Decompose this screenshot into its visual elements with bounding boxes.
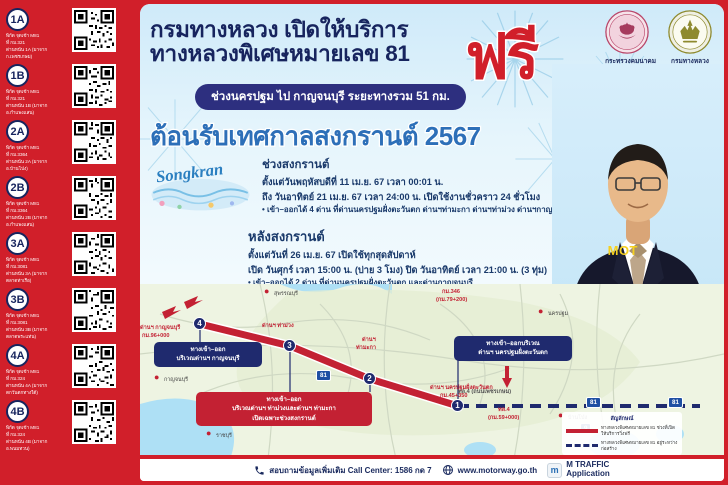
callout-kanchanaburi-line-2: บริเวณด่านฯ กาญจนบุรี [160, 354, 256, 363]
qr-item[interactable]: 4A พิกัด จุดเข้า M81ที่ กม.324 ด่านหน้น … [6, 344, 134, 396]
qr-item[interactable]: 3A พิกัด จุดเข้า M81ที่ กม.3081 ด่านหน้น… [6, 232, 134, 284]
jacket-mot-text: MOT [608, 243, 638, 258]
phone-icon [254, 465, 265, 476]
mtraffic-line-2: Application [566, 470, 610, 479]
qr-code-image[interactable] [72, 400, 116, 444]
callout-kanchanaburi-line-1: ทางเข้า–ออก [160, 345, 256, 354]
qr-caption: พิกัด จุดเข้า M81ที่ กม.3364 ด่านหน้น 2A… [6, 145, 68, 173]
globe-icon [442, 464, 454, 476]
map-place-nakhonpathom: นครปฐม [548, 310, 568, 318]
free-badge-text: ฟรี [465, 8, 536, 106]
qr-badge: 1A [6, 8, 29, 31]
qr-info: 4A พิกัด จุดเข้า M81ที่ กม.324 ด่านหน้น … [6, 344, 68, 397]
map-place-kanchanaburi: กาญจนบุรี [164, 376, 188, 384]
qr-info: 3A พิกัด จุดเข้า M81ที่ กม.3081 ด่านหน้น… [6, 232, 68, 285]
map-legend: สัญลักษณ์ ทางหลวงพิเศษหมายเลข 81 ช่วงที่… [562, 412, 682, 455]
qr-code-image[interactable] [72, 232, 116, 276]
qr-code-image[interactable] [72, 64, 116, 108]
during-line-2: ถึง วันอาทิตย์ 21 เม.ย. 67 เวลา 24:00 น.… [262, 190, 592, 205]
qr-code-image[interactable] [72, 176, 116, 220]
qr-caption: พิกัด จุดเข้า M81ที่ กม.3081 ด่านหน้น 3B… [6, 313, 68, 341]
ministry-of-transport-seal-icon [605, 10, 649, 54]
during-line-3: • เข้า–ออกได้ 4 ด่าน ที่ด่านนครปฐมฝั่งตะ… [262, 204, 592, 216]
qr-item[interactable]: 2A พิกัด จุดเข้า M81ที่ กม.3364 ด่านหน้น… [6, 120, 134, 172]
route-subbanner: ช่วงนครปฐม ไป กาญจนบุรี ระยะทางรวม 51 กม… [195, 84, 466, 110]
callout-thamuang-thamaka: ทางเข้า–ออก บริเวณด่านฯ ท่าม่วงและด่านฯ … [196, 392, 372, 426]
map-label-km59: (กม.59+000) [488, 414, 519, 422]
map-pin-ratchaburi: ● [206, 428, 211, 438]
footer-bar: สอบถามข้อมูลเพิ่มเติม Call Center: 1586 … [140, 459, 724, 481]
qr-badge: 3B [6, 288, 29, 311]
qr-item[interactable]: 2B พิกัด จุดเข้า M81ที่ กม.3364 ด่านหน้น… [6, 176, 134, 228]
during-heading: ช่วงสงกรานต์ [262, 156, 592, 174]
map-place-suphanburi: สุพรรณบุรี [274, 290, 298, 298]
route-shield-81: 81 [586, 397, 601, 408]
website-text: www.motorway.go.th [458, 466, 538, 475]
qr-badge: 2B [6, 176, 29, 199]
poster-root: 1A พิกัด จุดเข้า M81ที่ กม.321 ด่านหน้น … [0, 0, 728, 485]
songkran-watermark-icon: Songkran [148, 154, 253, 216]
department-of-highways-seal-icon [668, 10, 712, 54]
qr-caption: พิกัด จุดเข้า M81ที่ กม.324 ด่านหน้น 4A … [6, 369, 68, 397]
qr-info: 1A พิกัด จุดเข้า M81ที่ กม.321 ด่านหน้น … [6, 8, 68, 61]
legend-dashed-swatch [566, 444, 598, 447]
mtraffic-app-icon: m [547, 463, 562, 478]
legend-item-label: ทางหลวงพิเศษหมายเลข 81 ช่วงที่เปิดให้บริ… [601, 425, 678, 437]
during-line-1: ตั้งแต่วันพฤหัสบดีที่ 11 เม.ย. 67 เวลา 0… [262, 175, 592, 190]
qr-caption: พิกัด จุดเข้า M81ที่ กม.3364 ด่านหน้น 2B… [6, 201, 68, 229]
map-pin-nakhonpathom: ● [538, 306, 543, 316]
qr-code-image[interactable] [72, 344, 116, 388]
qr-info: 1B พิกัด จุดเข้า M81ที่ กม.321 ด่านหน้น … [6, 64, 68, 117]
qr-item[interactable]: 3B พิกัด จุดเข้า M81ที่ กม.3081 ด่านหน้น… [6, 288, 134, 340]
highways-logo: กรมทางหลวง [668, 10, 712, 66]
route-map[interactable]: 4 3 2 1 81 81 81 9 ด่านฯ กาญจนบุรี กม.96… [140, 284, 724, 459]
map-pin-suphanburi: ● [264, 286, 269, 296]
qr-caption: พิกัด จุดเข้า M81ที่ กม.321 ด่านหน้น 1B … [6, 89, 68, 117]
callout-thamuang-line-2: บริเวณด่านฯ ท่าม่วงและด่านฯ ท่ามะกา [202, 404, 366, 413]
callout-thamuang-line-1: ทางเข้า–ออก [202, 395, 366, 404]
map-label-dan: ด่านฯ [362, 336, 376, 344]
route-shield-81: 81 [316, 370, 331, 381]
map-node-3[interactable]: 3 [283, 339, 296, 352]
map-label-km96: กม.96+000 [142, 332, 169, 340]
qr-caption: พิกัด จุดเข้า M81ที่ กม.321 ด่านหน้น 1A … [6, 33, 68, 61]
callout-npw-line-1: ทางเข้า–ออกบริเวณ [460, 339, 566, 348]
qr-code-image[interactable] [72, 8, 116, 52]
qr-info: 4B พิกัด จุดเข้า M81ที่ กม.324 ด่านหน้น … [6, 400, 68, 453]
legend-solid-swatch [566, 429, 598, 433]
map-label-phetkasem: ทล.4 (ถนนเพชรเกษม) [458, 388, 511, 396]
map-label-kanchanaburi-toll: ด่านฯ กาญจนบุรี [140, 324, 180, 332]
qr-item[interactable]: 4B พิกัด จุดเข้า M81ที่ กม.324 ด่านหน้น … [6, 400, 134, 452]
map-label-thamaka: ท่ามะกา [356, 344, 376, 352]
qr-info: 3B พิกัด จุดเข้า M81ที่ กม.3081 ด่านหน้น… [6, 288, 68, 341]
callout-kanchanaburi: ทางเข้า–ออก บริเวณด่านฯ กาญจนบุรี [154, 342, 262, 367]
map-label-km346: กม.346 [442, 288, 460, 296]
qr-badge: 2A [6, 120, 29, 143]
qr-code-rail: 1A พิกัด จุดเข้า M81ที่ กม.321 ด่านหน้น … [0, 0, 140, 485]
qr-badge: 4A [6, 344, 29, 367]
ministry-logo: กระทรวงคมนาคม [605, 10, 656, 66]
qr-info: 2B พิกัด จุดเข้า M81ที่ กม.3364 ด่านหน้น… [6, 176, 68, 229]
qr-badge: 3A [6, 232, 29, 255]
callout-nakhonpathom-west: ทางเข้า–ออกบริเวณ ด่านฯ นครปฐมฝั่งตะวันต… [454, 336, 572, 361]
call-center-text: สอบถามข้อมูลเพิ่มเติม Call Center: 1586 … [269, 464, 431, 477]
route-shield-81: 81 [668, 397, 683, 408]
map-label-tl4: ทล.4 [498, 406, 510, 414]
call-center-item[interactable]: สอบถามข้อมูลเพิ่มเติม Call Center: 1586 … [254, 464, 431, 477]
legend-title: สัญลักษณ์ [566, 415, 678, 423]
map-label-thamuang: ด่านฯ ท่าม่วง [262, 322, 294, 330]
qr-code-image[interactable] [72, 288, 116, 332]
songkran-title: ต้อนรับเทศกาลสงกรานต์ 2567 [150, 116, 481, 157]
qr-caption: พิกัด จุดเข้า M81ที่ กม.3081 ด่านหน้น 3A… [6, 257, 68, 285]
logo-group: กระทรวงคมนาคม กรมทางหลวง [605, 10, 712, 66]
map-pin-kanchanaburi: ● [154, 372, 159, 382]
legend-item-label: ทางหลวงพิเศษหมายเลข 81 อยู่ระหว่างก่อสร้… [601, 440, 678, 452]
qr-caption: พิกัด จุดเข้า M81ที่ กม.324 ด่านหน้น 4B … [6, 425, 68, 453]
legend-item: ทางหลวงพิเศษหมายเลข 81 ช่วงที่เปิดให้บริ… [566, 425, 678, 437]
main-card: กระทรวงคมนาคม กรมทางหลวง กรมทางหลวง เปิด… [140, 4, 724, 481]
qr-item[interactable]: 1B พิกัด จุดเข้า M81ที่ กม.321 ด่านหน้น … [6, 64, 134, 116]
during-songkran-block: ช่วงสงกรานต์ ตั้งแต่วันพฤหัสบดีที่ 11 เม… [262, 156, 592, 217]
map-label-km79: (กม.79+200) [436, 296, 467, 304]
callout-thamuang-line-3: เปิดเฉพาะช่วงสงกรานต์ [202, 414, 366, 423]
qr-badge: 1B [6, 64, 29, 87]
legend-item: ทางหลวงพิเศษหมายเลข 81 อยู่ระหว่างก่อสร้… [566, 440, 678, 452]
qr-info: 2A พิกัด จุดเข้า M81ที่ กม.3364 ด่านหน้น… [6, 120, 68, 173]
map-node-2[interactable]: 2 [363, 372, 376, 385]
map-node-4[interactable]: 4 [193, 317, 206, 330]
qr-badge: 4B [6, 400, 29, 423]
qr-item[interactable]: 1A พิกัด จุดเข้า M81ที่ กม.321 ด่านหน้น … [6, 8, 134, 60]
qr-code-image[interactable] [72, 120, 116, 164]
mtraffic-app-label: M TRAFFIC Application [566, 461, 610, 479]
website-item[interactable]: www.motorway.go.th [442, 464, 538, 476]
map-place-ratchaburi: ราชบุรี [216, 432, 232, 440]
mtraffic-app-item[interactable]: m M TRAFFIC Application [547, 461, 610, 479]
map-node-1[interactable]: 1 [451, 399, 464, 412]
callout-npw-line-2: ด่านฯ นครปฐมฝั่งตะวันตก [460, 348, 566, 357]
